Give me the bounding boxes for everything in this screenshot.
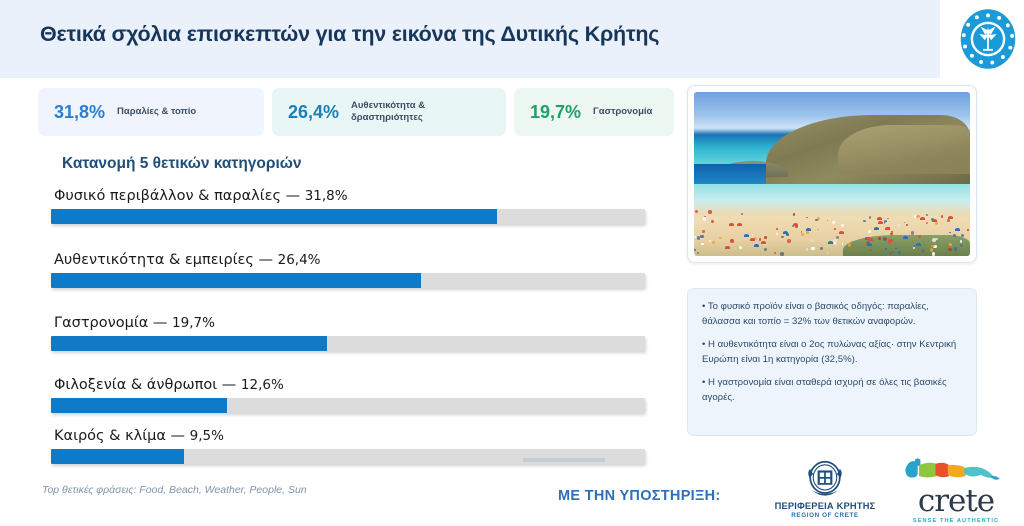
region-emblem-icon [957,5,1019,73]
beach-person-dot [793,213,795,215]
beach-person-dot [712,241,715,244]
bar-value-label: 9,5% [190,428,224,444]
beach-umbrella-dot [750,238,755,241]
beach-person-dot [815,219,818,222]
bar-fill [51,209,497,224]
kpi-value: 31,8% [54,102,105,123]
crete-wordmark: crete [900,488,1012,516]
beach-person-dot [914,245,916,247]
page-title: Θετικά σχόλια επισκεπτών για την εικόνα … [40,22,900,47]
beach-umbrella-dot [903,236,908,239]
beach-umbrella-dot [888,239,893,242]
insights-box: • Το φυσικό προϊόν είναι ο βασικός οδηγό… [687,288,977,436]
beach-person-dot [884,238,887,241]
beach-umbrella-dot [754,244,759,247]
beach-person-dot [703,217,706,220]
chart-title: Κατανομή 5 θετικών κατηγοριών [62,155,302,173]
beach-person-dot [926,222,928,224]
beach-person-dot [709,240,711,242]
kpi-value: 19,7% [530,102,581,123]
beach-person-dot [911,231,914,234]
beach-umbrella-dot [932,219,937,222]
beach-person-dot [729,217,731,219]
beach-umbrella-dot [920,217,925,220]
beach-umbrella-dot [866,237,871,240]
beach-person-dot [921,249,925,253]
region-of-crete-logo: ΠΕΡΙΦΕΡΕΙΑ ΚΡΗΤΗΣ REGION OF CRETE [770,460,880,519]
deep-sea-shape [694,164,766,184]
kpi-label: Αυθεντικότητα & δραστηριότητες [351,100,481,124]
beach-umbrella-dot [806,228,811,231]
beach-person-dot [935,222,938,225]
beach-umbrella-dot [955,228,960,231]
beach-umbrella-dot [874,227,879,230]
bar-value-label: 12,6% [241,377,284,393]
cliff-shape-far [838,125,970,174]
bar-row: Γαστρονομία — 19,7% [51,315,645,351]
bar-label: Φυσικό περιβάλλον & παραλίες — 31,8% [54,188,645,204]
kpi-card-1[interactable]: 26,4% Αυθεντικότητα & δραστηριότητες [272,88,506,136]
beach-person-dot [695,210,697,212]
beach-person-dot [878,237,881,240]
beach-umbrella-dot [885,227,890,230]
kpi-card-0[interactable]: 31,8% Παραλίες & τοπίο [38,88,264,136]
beach-person-dot [702,230,705,233]
beach-umbrella-dot [878,221,883,224]
beach-person-dot [834,242,836,244]
bar-fill [51,336,327,351]
beach-person-dot [811,247,814,250]
beach-person-dot [941,215,944,218]
beach-person-dot [780,252,784,256]
kpi-card-2[interactable]: 19,7% Γαστρονομία [514,88,674,136]
beach-person-dot [817,229,819,231]
beach-person-dot [960,244,963,247]
beach-person-dot [932,238,936,242]
kpi-value: 26,4% [288,102,339,123]
bar-label: Καιρός & κλίμα — 9,5% [54,428,645,444]
beach-person-dot [832,221,835,224]
crete-brand-logo: crete SENSE THE AUTHENTIC [900,457,1012,524]
bar-track [51,273,645,288]
beach-person-dot [764,236,767,239]
beach-umbrella-dot [948,216,953,219]
beach-person-dot [869,216,871,218]
crete-island-logo-icon [900,457,1012,483]
beach-person-dot [898,251,901,254]
bar-row: Αυθεντικότητα & εμπειρίες — 26,4% [51,252,645,288]
beach-person-dot [741,213,743,215]
kpi-label: Παραλίες & τοπίο [117,106,196,118]
beach-person-dot [811,239,814,242]
beach-person-dot [708,210,711,213]
bar-row: Φιλοξενία & άνθρωποι — 12,6% [51,377,645,413]
crest-line-1: ΠΕΡΙΦΕΡΕΙΑ ΚΡΗΤΗΣ [770,501,880,511]
beach-umbrella-dot [725,246,730,249]
bar-value-label: 19,7% [172,315,215,331]
footer-caption: Top θετικές φράσεις: Food, Beach, Weathe… [42,484,307,496]
beach-person-dot [855,251,857,253]
bar-track [51,398,645,413]
beach-umbrella-dot [916,243,921,246]
beach-umbrella-dot [877,217,882,220]
beach-person-dot [787,239,791,243]
kpi-label: Γαστρονομία [593,106,652,118]
bar-fill [51,398,227,413]
beach-person-dot [948,210,950,212]
slide-root: Θετικά σχόλια επισκεπτών για την εικόνα … [0,0,1024,526]
beach-person-dot [954,247,958,251]
insight-bullet: • Η γαστρονομία είναι σταθερά ισχυρή σε … [702,376,962,405]
bar-row: Φυσικό περιβάλλον & παραλίες — 31,8% [51,188,645,224]
beach-person-dot [926,214,928,216]
crest-line-2: REGION OF CRETE [770,512,880,519]
beach-umbrella-dot [867,243,872,246]
beach-umbrella-dot [737,223,742,226]
bar-label: Αυθεντικότητα & εμπειρίες — 26,4% [54,252,645,268]
beach-person-dot [895,248,897,250]
beach-umbrella-dot [839,231,844,234]
crete-tagline: SENSE THE AUTHENTIC [900,518,1012,524]
beach-umbrella-dot [744,234,749,237]
beach-umbrella-dot [828,241,833,244]
beach-person-dot [806,231,809,234]
bar-fill [51,273,421,288]
beach-person-dot [752,234,754,236]
insight-bullet: • Το φυσικό προϊόν είναι ο βασικός οδηγό… [702,300,962,329]
beach-person-dot [700,235,703,238]
bar-track [51,336,645,351]
beach-person-dot [774,252,775,253]
bar-value-label: 26,4% [278,252,321,268]
bar-track [51,209,645,224]
beach-umbrella-dot [761,241,766,244]
insight-bullet: • Η αυθεντικότητα είναι ο 2ος πυλώνας αξ… [702,338,962,367]
beach-person-dot [916,215,920,219]
crete-beach-photo [687,85,977,263]
photo-image [694,92,970,256]
beach-umbrella-dot [729,223,734,226]
beach-person-dot [806,217,808,219]
beach-umbrella-dot [793,223,798,226]
bar-label: Γαστρονομία — 19,7% [54,315,645,331]
beach-person-dot [933,245,935,247]
beach-person-dot [730,239,734,243]
bar-fill [51,449,184,464]
bar-label: Φιλοξενία & άνθρωποι — 12,6% [54,377,645,393]
greek-coat-of-arms-icon [803,460,847,500]
beach-person-dot [801,233,804,236]
beach-umbrella-dot [783,231,788,234]
bar-value-label: 31,8% [305,188,348,204]
support-label: ΜΕ ΤΗΝ ΥΠΟΣΤΗΡΙΞΗ: [558,488,721,504]
footer-divider [523,458,605,462]
